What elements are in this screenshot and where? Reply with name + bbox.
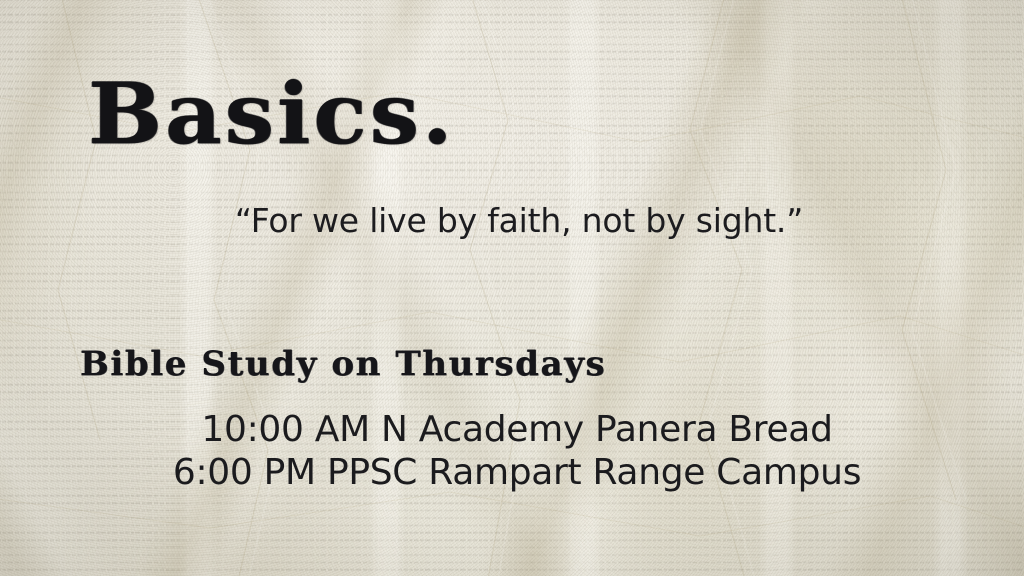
slide-title: Basics. [88, 72, 455, 156]
slide-content: Basics. “For we live by faith, not by si… [0, 0, 1024, 576]
scripture-quote: “For we live by faith, not by sight.” [235, 204, 803, 237]
event-detail-line-morning: 10:00 AM N Academy Panera Bread [201, 412, 832, 448]
event-subheading: Bible Study on Thursdays [80, 347, 606, 381]
presentation-slide: Basics. “For we live by faith, not by si… [0, 0, 1024, 576]
event-detail-line-evening: 6:00 PM PPSC Rampart Range Campus [173, 455, 861, 491]
